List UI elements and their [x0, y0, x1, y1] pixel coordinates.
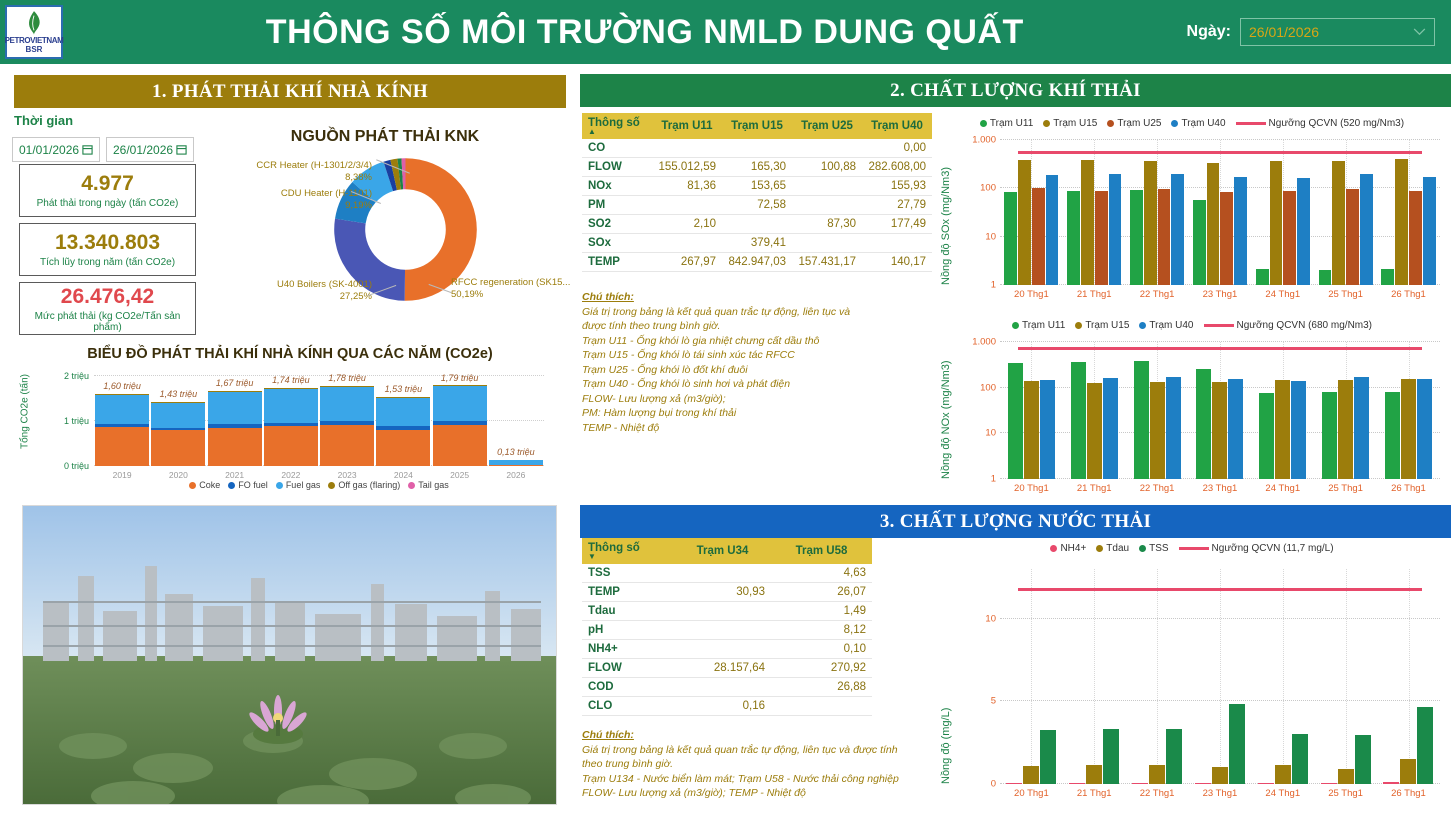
- legend-item[interactable]: Trạm U25: [1107, 118, 1161, 129]
- y-axis-tick: 100: [980, 183, 996, 194]
- x-axis-tick: 21 Thg1: [1077, 289, 1112, 300]
- cell-u11: [652, 234, 722, 253]
- x-axis-tick: 26 Thg1: [1391, 289, 1426, 300]
- x-axis-tick: 2021: [225, 470, 244, 480]
- legend-label: Ngưỡng QCVN (11,7 mg/L): [1212, 543, 1334, 554]
- bar[interactable]: [1196, 369, 1211, 479]
- table-row[interactable]: SO22,1087,30177,49: [582, 215, 932, 234]
- bar[interactable]: [1040, 730, 1056, 784]
- table-row[interactable]: NOx81,36153,65155,93: [582, 177, 932, 196]
- legend-label: Ngưỡng QCVN (680 mg/Nm3): [1237, 320, 1373, 331]
- bar[interactable]: [1150, 382, 1165, 479]
- bar-column[interactable]: 1,74 triệu2022: [264, 376, 318, 466]
- bar[interactable]: [1395, 159, 1408, 285]
- table-row[interactable]: SOx379,41: [582, 234, 932, 253]
- bar[interactable]: [1385, 392, 1400, 479]
- cell-u25: [792, 177, 862, 196]
- bar[interactable]: [1103, 378, 1118, 479]
- bar[interactable]: [1212, 767, 1228, 784]
- bar-segment[interactable]: [376, 430, 430, 466]
- legend-item[interactable]: Trạm U11: [1012, 320, 1065, 331]
- bar[interactable]: [1023, 766, 1039, 784]
- bar-group[interactable]: 23 Thg1: [1193, 342, 1247, 479]
- date-to-value: 26/01/2026: [113, 143, 173, 157]
- bar-group[interactable]: 25 Thg1: [1319, 342, 1373, 479]
- date-select-value: 26/01/2026: [1249, 24, 1319, 40]
- bar-group[interactable]: 26 Thg1: [1381, 140, 1435, 285]
- bar[interactable]: [1275, 765, 1291, 784]
- bar-group-container: 20 Thg121 Thg122 Thg123 Thg124 Thg125 Th…: [1000, 569, 1440, 784]
- legend-label: NH4+: [1060, 543, 1086, 554]
- date-select[interactable]: 26/01/2026: [1240, 18, 1435, 46]
- bar-column[interactable]: 1,79 triệu2025: [433, 376, 487, 466]
- column-header-parameter[interactable]: Thông số ▼: [582, 538, 674, 564]
- bar-group[interactable]: 21 Thg1: [1067, 342, 1121, 479]
- legend-item[interactable]: Fuel gas: [276, 480, 321, 490]
- bar[interactable]: [1417, 379, 1432, 479]
- date-from-input[interactable]: 01/01/2026: [12, 137, 100, 162]
- legend-label: Trạm U40: [1149, 320, 1193, 331]
- bar-column[interactable]: 1,67 triệu2021: [208, 376, 262, 466]
- bar[interactable]: [1291, 381, 1306, 479]
- cell-u34: [674, 678, 771, 697]
- bar[interactable]: [1297, 178, 1310, 285]
- cell-u34: [674, 602, 771, 621]
- y-axis-tick: 1.000: [972, 337, 996, 348]
- bar-total-label: 1,60 triệu: [103, 381, 141, 391]
- legend-swatch: [1139, 322, 1146, 329]
- table-row[interactable]: FLOW155.012,59165,30100,88282.608,00: [582, 158, 932, 177]
- legend-item[interactable]: Coke: [189, 480, 220, 490]
- note-line: Giá trị trong bảng là kết quả quan trắc …: [582, 305, 934, 320]
- threshold-line: [1018, 347, 1423, 350]
- x-axis-tick: 21 Thg1: [1077, 483, 1112, 494]
- bar[interactable]: [1071, 362, 1086, 479]
- legend-swatch: [1050, 545, 1057, 552]
- cell-u34: [674, 621, 771, 640]
- bar[interactable]: [1018, 160, 1031, 285]
- bar-group[interactable]: 24 Thg1: [1256, 342, 1310, 479]
- table-row[interactable]: Tdau1,49: [582, 602, 872, 621]
- y-axis-tick: 5: [991, 696, 996, 707]
- legend-threshold-line: [1236, 122, 1266, 125]
- bar-segment[interactable]: [95, 395, 149, 424]
- bar-group[interactable]: 21 Thg1: [1067, 140, 1121, 285]
- legend-item[interactable]: Trạm U15: [1075, 320, 1129, 331]
- cell-u15: 842.947,03: [722, 253, 792, 272]
- kpi-caption: Mức phát thải (kg CO2e/Tấn sản phẩm): [20, 311, 195, 333]
- bar[interactable]: [1381, 269, 1394, 285]
- bar-segment[interactable]: [376, 398, 430, 426]
- bar-segment[interactable]: [208, 428, 262, 466]
- bar-segment[interactable]: [264, 426, 318, 466]
- cell-parameter: SOx: [582, 234, 652, 253]
- kpi-value: 26.476,42: [61, 285, 154, 309]
- bar-segment[interactable]: [208, 392, 262, 424]
- legend-item-threshold[interactable]: Ngưỡng QCVN (11,7 mg/L): [1179, 543, 1334, 554]
- x-axis-tick: 23 Thg1: [1203, 788, 1238, 799]
- table-row[interactable]: TEMP267,97842.947,03157.431,17140,17: [582, 253, 932, 272]
- table-header-row: Thông số ▼ Trạm U34 Trạm U58: [582, 538, 872, 564]
- x-axis-tick: 25 Thg1: [1328, 289, 1363, 300]
- bar[interactable]: [1360, 174, 1373, 285]
- bar[interactable]: [1109, 174, 1122, 285]
- note-line: Trạm U11 - Ống khói lò gia nhiệt chưng c…: [582, 334, 934, 349]
- bar[interactable]: [1400, 759, 1416, 784]
- kpi-card-emission-intensity: 26.476,42 Mức phát thải (kg CO2e/Tấn sản…: [19, 282, 196, 335]
- table-row[interactable]: TEMP30,9326,07: [582, 583, 872, 602]
- cell-u11: [652, 139, 722, 158]
- legend-item[interactable]: Tail gas: [408, 480, 449, 490]
- sort-ascending-icon: ▲: [588, 129, 646, 135]
- bar[interactable]: [1321, 783, 1337, 784]
- bar-total-label: 1,78 triệu: [328, 373, 366, 383]
- cell-u40: 155,93: [862, 177, 932, 196]
- bar[interactable]: [1234, 177, 1247, 285]
- x-axis-tick: 24 Thg1: [1265, 289, 1300, 300]
- cell-u58: 0,10: [771, 640, 872, 659]
- legend-item-threshold[interactable]: Ngưỡng QCVN (520 mg/Nm3): [1236, 118, 1405, 129]
- legend-label: Trạm U11: [990, 118, 1033, 129]
- bar[interactable]: [1270, 161, 1283, 285]
- bar-segment[interactable]: [489, 465, 543, 466]
- yearly-chart-legend: CokeFO fuelFuel gasOff gas (flaring)Tail…: [94, 480, 544, 490]
- cell-u15: [722, 139, 792, 158]
- cell-parameter: FLOW: [582, 158, 652, 177]
- legend-item[interactable]: Trạm U40: [1171, 118, 1225, 129]
- cell-u40: 282.608,00: [862, 158, 932, 177]
- bar[interactable]: [1383, 782, 1399, 784]
- bar[interactable]: [1130, 190, 1143, 285]
- donut-label-pct: 27,25%: [340, 291, 372, 302]
- bar-group[interactable]: 24 Thg1: [1256, 569, 1310, 784]
- bar-group[interactable]: 20 Thg1: [1004, 569, 1058, 784]
- legend-item[interactable]: Off gas (flaring): [328, 480, 400, 490]
- bar[interactable]: [1193, 200, 1206, 285]
- cell-u11: 2,10: [652, 215, 722, 234]
- bar[interactable]: [1259, 393, 1274, 479]
- bar[interactable]: [1069, 783, 1085, 784]
- bar-group[interactable]: 22 Thg1: [1130, 140, 1184, 285]
- petrovietnam-bsr-logo: PETROVIETNAM BSR: [5, 5, 63, 59]
- legend-swatch: [1096, 545, 1103, 552]
- bar-segment[interactable]: [320, 425, 374, 466]
- table-row[interactable]: CLO0,16: [582, 697, 872, 716]
- chart-plot-area: 1101001.00020 Thg121 Thg122 Thg123 Thg12…: [1000, 342, 1440, 479]
- legend-label: Ngưỡng QCVN (520 mg/Nm3): [1269, 118, 1405, 129]
- legend-item-threshold[interactable]: Ngưỡng QCVN (680 mg/Nm3): [1204, 320, 1373, 331]
- chart-legend: NH4+TdauTSSNgưỡng QCVN (11,7 mg/L): [938, 543, 1446, 554]
- cell-parameter: SO2: [582, 215, 652, 234]
- column-header-u40[interactable]: Trạm U40: [862, 113, 932, 139]
- bar-segment[interactable]: [95, 427, 149, 466]
- threshold-line: [1018, 151, 1423, 154]
- bar[interactable]: [1355, 735, 1371, 784]
- x-axis-tick: 25 Thg1: [1328, 788, 1363, 799]
- column-header-u15[interactable]: Trạm U15: [722, 113, 792, 139]
- legend-label: Fuel gas: [286, 480, 321, 490]
- bar[interactable]: [1134, 361, 1149, 479]
- bar[interactable]: [1032, 188, 1045, 285]
- bar[interactable]: [1354, 377, 1369, 479]
- bar-segment[interactable]: [264, 389, 318, 424]
- water-chart: NH4+TdauTSSNgưỡng QCVN (11,7 mg/L)Nồng đ…: [938, 543, 1446, 805]
- bar[interactable]: [1132, 783, 1148, 784]
- bar[interactable]: [1322, 392, 1337, 479]
- bar[interactable]: [1095, 191, 1108, 285]
- cell-u15: 153,65: [722, 177, 792, 196]
- logo-text-petrovietnam: PETROVIETNAM: [5, 36, 64, 45]
- bar[interactable]: [1417, 707, 1433, 784]
- y-axis-tick: 10: [985, 231, 996, 242]
- section-2-banner: 2. CHẤT LƯỢNG KHÍ THẢI: [580, 74, 1451, 107]
- table-header-row: Thông số ▲ Trạm U11 Trạm U15 Trạm U25 Tr…: [582, 113, 932, 139]
- bar-column[interactable]: 1,53 triệu2024: [376, 376, 430, 466]
- bar[interactable]: [1228, 379, 1243, 479]
- bar-total-label: 1,43 triệu: [160, 389, 198, 399]
- bar[interactable]: [1040, 380, 1055, 479]
- legend-label: Tail gas: [418, 480, 449, 490]
- cell-u40: 177,49: [862, 215, 932, 234]
- legend-swatch: [1075, 322, 1082, 329]
- note-line: FLOW- Lưu lượng xả (m3/giờ); TEMP - Nhiệ…: [582, 786, 937, 801]
- legend-item[interactable]: Trạm U15: [1043, 118, 1097, 129]
- bar[interactable]: [1319, 270, 1332, 285]
- legend-item[interactable]: Trạm U11: [980, 118, 1033, 129]
- date-filter-label: Ngày:: [1187, 23, 1231, 41]
- bar[interactable]: [1103, 729, 1119, 784]
- donut-label-text: U40 Boilers (SK-4001): [277, 279, 372, 290]
- date-range-filter: 01/01/2026 26/01/2026: [12, 137, 194, 162]
- bar[interactable]: [1338, 380, 1353, 479]
- donut-label-rfcc-regeneration: RFCC regeneration (SK15... 50,19%: [451, 277, 581, 301]
- bar-group[interactable]: 24 Thg1: [1256, 140, 1310, 285]
- donut-label-ccr-heater: CCR Heater (H-1301/2/3/4) 8,38%: [212, 160, 372, 184]
- bar-group-container: 20 Thg121 Thg122 Thg123 Thg124 Thg125 Th…: [1000, 342, 1440, 479]
- section-3-banner: 3. CHẤT LƯỢNG NƯỚC THẢI: [580, 505, 1451, 538]
- column-header-u25[interactable]: Trạm U25: [792, 113, 862, 139]
- bar[interactable]: [1423, 177, 1436, 285]
- flame-icon: [23, 10, 45, 36]
- table-row[interactable]: FLOW28.157,64270,92: [582, 659, 872, 678]
- bar-column[interactable]: 1,60 triệu2019: [95, 376, 149, 466]
- cell-u58: 4,63: [771, 564, 872, 583]
- bar[interactable]: [1144, 161, 1157, 285]
- legend-swatch: [328, 482, 335, 489]
- cell-u34: [674, 564, 771, 583]
- legend-label: Tdau: [1106, 543, 1129, 554]
- y-axis-tick: 10: [985, 428, 996, 439]
- cell-u11: 155.012,59: [652, 158, 722, 177]
- bar[interactable]: [1332, 161, 1345, 285]
- yearly-chart-ylabel: Tổng CO2e (tấn): [20, 357, 31, 467]
- cell-u25: [792, 196, 862, 215]
- table-row[interactable]: COD26,88: [582, 678, 872, 697]
- column-header-u11[interactable]: Trạm U11: [652, 113, 722, 139]
- legend-item[interactable]: FO fuel: [228, 480, 268, 490]
- refinery-photo: [22, 505, 557, 805]
- donut-label-u40-boilers: U40 Boilers (SK-4001) 27,25%: [192, 279, 372, 303]
- bar[interactable]: [1158, 189, 1171, 285]
- bar-group[interactable]: 26 Thg1: [1381, 569, 1435, 784]
- note-line: FLOW- Lưu lượng xả (m3/giờ);: [582, 392, 934, 407]
- note-line: TEMP - Nhiệt độ: [582, 421, 934, 436]
- bar-group[interactable]: 21 Thg1: [1067, 569, 1121, 784]
- bar[interactable]: [1401, 379, 1416, 479]
- cell-u58: 8,12: [771, 621, 872, 640]
- bar[interactable]: [1046, 175, 1059, 285]
- yearly-chart-plot: 0 triệu1 triệu2 triệu1,60 triệu20191,43 …: [94, 376, 544, 466]
- bar[interactable]: [1220, 192, 1233, 285]
- cell-parameter: TEMP: [582, 583, 674, 602]
- legend-swatch: [980, 120, 987, 127]
- column-header-parameter[interactable]: Thông số ▲: [582, 113, 652, 139]
- table-row[interactable]: CO0,00: [582, 139, 932, 158]
- table-row[interactable]: PM72,5827,79: [582, 196, 932, 215]
- legend-item[interactable]: Trạm U40: [1139, 320, 1193, 331]
- column-header-u58[interactable]: Trạm U58: [771, 538, 872, 564]
- legend-label: Off gas (flaring): [338, 480, 400, 490]
- donut-label-pct: 8,38%: [345, 172, 372, 183]
- cell-u11: 81,36: [652, 177, 722, 196]
- bar[interactable]: [1171, 174, 1184, 285]
- bar[interactable]: [1006, 783, 1022, 784]
- bar-column[interactable]: 0,13 triệu2026: [489, 376, 543, 466]
- bar-segment[interactable]: [433, 425, 487, 466]
- notes-title: Chú thích:: [582, 728, 937, 743]
- bar-segment[interactable]: [433, 386, 487, 420]
- table-row[interactable]: NH4+0,10: [582, 640, 872, 659]
- cell-u58: 26,88: [771, 678, 872, 697]
- bar-segment[interactable]: [320, 387, 374, 420]
- cell-u40: 140,17: [862, 253, 932, 272]
- legend-item[interactable]: NH4+: [1050, 543, 1086, 554]
- cell-parameter: TEMP: [582, 253, 652, 272]
- column-header-u34[interactable]: Trạm U34: [674, 538, 771, 564]
- bar[interactable]: [1004, 192, 1017, 285]
- legend-threshold-line: [1204, 324, 1234, 327]
- bar[interactable]: [1346, 189, 1359, 285]
- nox-chart: Trạm U11Trạm U15Trạm U40Ngưỡng QCVN (680…: [938, 320, 1446, 497]
- date-to-input[interactable]: 26/01/2026: [106, 137, 194, 162]
- bar[interactable]: [1067, 191, 1080, 285]
- bar[interactable]: [1195, 783, 1211, 784]
- cell-u15: 72,58: [722, 196, 792, 215]
- bar[interactable]: [1166, 377, 1181, 479]
- cell-u25: [792, 234, 862, 253]
- y-axis-tick: 1 triệu: [64, 416, 89, 426]
- legend-swatch: [228, 482, 235, 489]
- cell-u58: 270,92: [771, 659, 872, 678]
- x-axis-tick: 2026: [506, 470, 525, 480]
- cell-u15: 165,30: [722, 158, 792, 177]
- calendar-icon: [176, 144, 187, 155]
- cell-parameter: COD: [582, 678, 674, 697]
- bar[interactable]: [1008, 363, 1023, 479]
- bar-group[interactable]: 25 Thg1: [1319, 140, 1373, 285]
- bar[interactable]: [1086, 765, 1102, 784]
- x-axis-tick: 20 Thg1: [1014, 483, 1049, 494]
- bar-group[interactable]: 22 Thg1: [1130, 569, 1184, 784]
- kpi-value: 13.340.803: [55, 231, 160, 255]
- x-axis-tick: 23 Thg1: [1203, 483, 1238, 494]
- air-quality-notes: Chú thích: Giá trị trong bảng là kết quả…: [582, 290, 934, 435]
- x-axis-tick: 2023: [338, 470, 357, 480]
- bar-group[interactable]: 25 Thg1: [1319, 569, 1373, 784]
- bar[interactable]: [1292, 734, 1308, 784]
- x-axis-tick: 24 Thg1: [1265, 788, 1300, 799]
- bar[interactable]: [1229, 704, 1245, 784]
- bar-segment[interactable]: [151, 403, 205, 428]
- bar[interactable]: [1258, 783, 1274, 784]
- bar[interactable]: [1149, 765, 1165, 785]
- yearly-ghg-chart: Tổng CO2e (tấn) 0 triệu1 triệu2 triệu1,6…: [14, 368, 566, 496]
- threshold-line: [1018, 588, 1423, 591]
- bar[interactable]: [1087, 383, 1102, 479]
- bar-group[interactable]: 26 Thg1: [1381, 342, 1435, 479]
- x-axis-tick: 22 Thg1: [1140, 788, 1175, 799]
- legend-label: Trạm U25: [1117, 118, 1161, 129]
- kpi-caption: Phát thải trong ngày (tấn CO2e): [37, 198, 179, 209]
- bar-group[interactable]: 23 Thg1: [1193, 140, 1247, 285]
- bar-group[interactable]: 20 Thg1: [1004, 140, 1058, 285]
- cell-parameter: FLOW: [582, 659, 674, 678]
- legend-item[interactable]: TSS: [1139, 543, 1168, 554]
- bar[interactable]: [1256, 269, 1269, 285]
- bar[interactable]: [1081, 160, 1094, 286]
- legend-item[interactable]: Tdau: [1096, 543, 1129, 554]
- y-axis-tick: 100: [980, 382, 996, 393]
- bar-group[interactable]: 20 Thg1: [1004, 342, 1058, 479]
- cell-u40: [862, 234, 932, 253]
- y-axis-label: Nồng độ (mg/L): [940, 708, 952, 784]
- bar-column[interactable]: 1,43 triệu2020: [151, 376, 205, 466]
- note-line: theo trung bình giờ.: [582, 757, 937, 772]
- cell-u34: 0,16: [674, 697, 771, 716]
- legend-label: Trạm U40: [1181, 118, 1225, 129]
- bar-group[interactable]: 23 Thg1: [1193, 569, 1247, 784]
- bar[interactable]: [1338, 769, 1354, 784]
- bar-segment[interactable]: [151, 430, 205, 466]
- donut-label-text: CCR Heater (H-1301/2/3/4): [256, 160, 372, 171]
- bar-column[interactable]: 1,78 triệu2023: [320, 376, 374, 466]
- y-axis-label: Nồng độ SOx (mg/Nm3): [940, 167, 952, 285]
- table-row[interactable]: TSS4,63: [582, 564, 872, 583]
- y-axis-tick: 2 triệu: [64, 371, 89, 381]
- bar[interactable]: [1207, 163, 1220, 285]
- cell-parameter: CLO: [582, 697, 674, 716]
- y-axis-tick: 1: [991, 280, 996, 291]
- bar[interactable]: [1024, 381, 1039, 479]
- bar[interactable]: [1283, 191, 1296, 285]
- legend-swatch: [1107, 120, 1114, 127]
- bar[interactable]: [1409, 191, 1422, 285]
- bar[interactable]: [1275, 380, 1290, 479]
- app-header: PETROVIETNAM BSR THÔNG SỐ MÔI TRƯỜNG NML…: [0, 0, 1451, 64]
- cell-u15: 379,41: [722, 234, 792, 253]
- table-row[interactable]: pH8,12: [582, 621, 872, 640]
- donut-chart-title: NGUỒN PHÁT THẢI KNK: [220, 128, 550, 146]
- donut-label-pct: 9,19%: [345, 200, 372, 211]
- cell-parameter: PM: [582, 196, 652, 215]
- bar[interactable]: [1166, 729, 1182, 784]
- note-line: Trạm U25 - Ống khói lò đốt khí đuôi: [582, 363, 934, 378]
- legend-swatch: [276, 482, 283, 489]
- bar-group[interactable]: 22 Thg1: [1130, 342, 1184, 479]
- x-axis-tick: 2022: [281, 470, 300, 480]
- bar[interactable]: [1212, 382, 1227, 479]
- cell-u34: 28.157,64: [674, 659, 771, 678]
